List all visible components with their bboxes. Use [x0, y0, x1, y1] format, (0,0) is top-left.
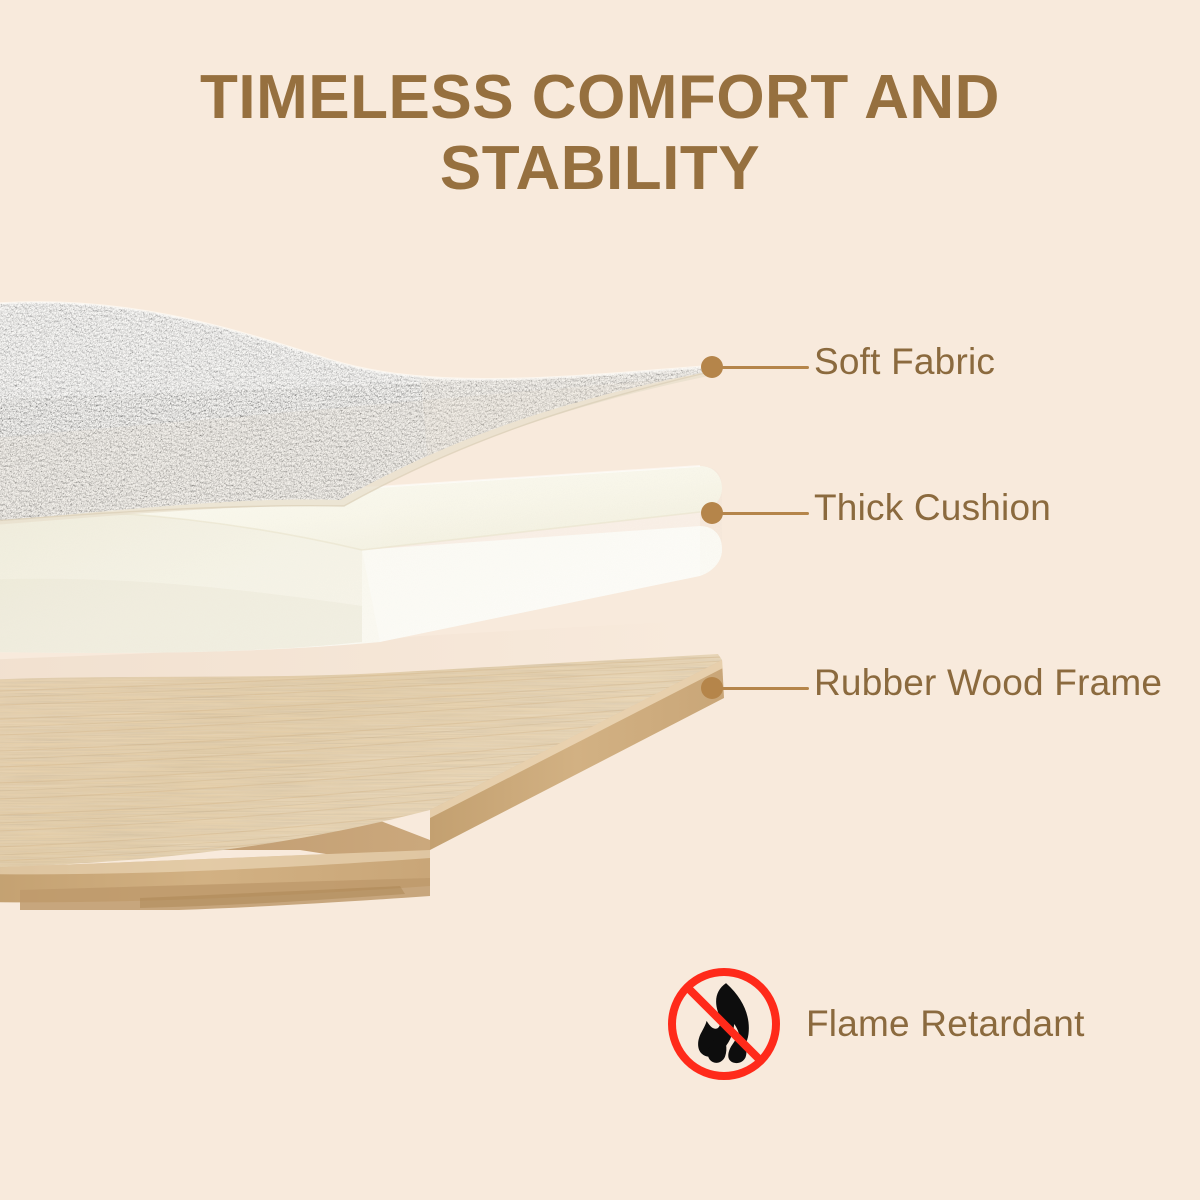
callout-leader-line — [721, 687, 809, 690]
callout-dot-icon — [701, 677, 723, 699]
infographic-canvas: TIMELESS COMFORT AND STABILITY — [0, 0, 1200, 1200]
product-exploded-view — [0, 250, 760, 910]
no-flame-icon — [663, 963, 785, 1085]
callout-dot-icon — [701, 356, 723, 378]
callout-label-rubber-wood-frame: Rubber Wood Frame — [814, 662, 1162, 704]
callout-leader-line — [721, 366, 809, 369]
callout-dot-icon — [701, 502, 723, 524]
callout-leader-line — [721, 512, 809, 515]
flame-retardant-badge: Flame Retardant — [663, 963, 1085, 1085]
callout-label-thick-cushion: Thick Cushion — [814, 487, 1051, 529]
page-title: TIMELESS COMFORT AND STABILITY — [100, 62, 1100, 205]
flame-retardant-label: Flame Retardant — [806, 1003, 1085, 1045]
callout-label-soft-fabric: Soft Fabric — [814, 341, 995, 383]
